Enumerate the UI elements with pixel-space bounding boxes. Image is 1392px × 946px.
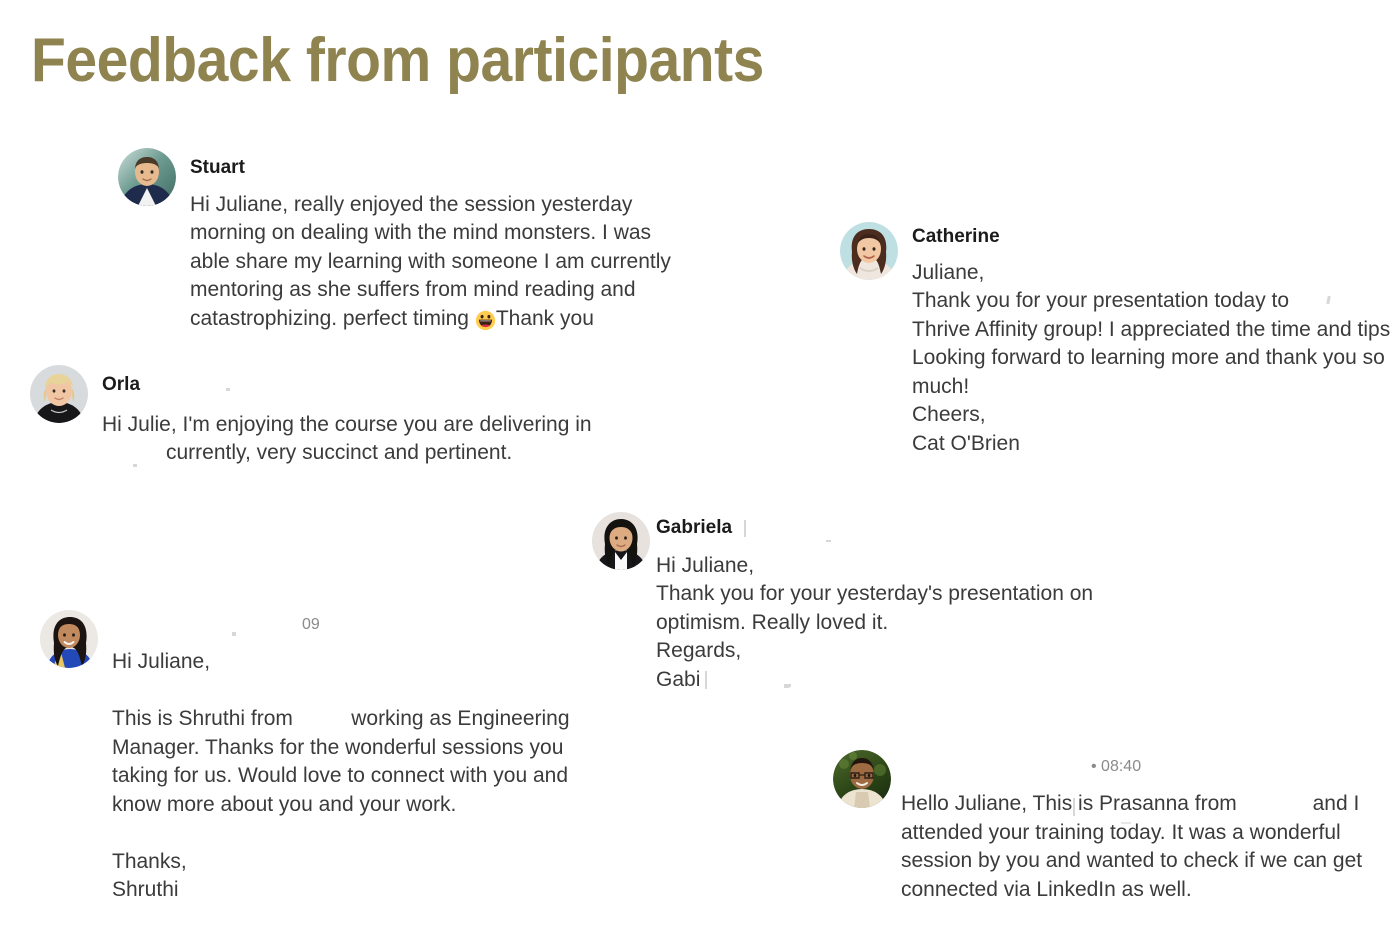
message-text: Hi Juliane, really enjoyed the session y…	[190, 191, 680, 336]
avatar-orla	[30, 365, 88, 423]
redaction-artifact	[232, 632, 236, 636]
avatar-shruthi	[40, 610, 98, 668]
redaction-artifact	[826, 540, 831, 542]
redaction-artifact	[226, 388, 230, 391]
redaction-artifact	[1121, 822, 1131, 824]
redaction-artifact	[705, 671, 707, 689]
message-timestamp: • 08:40	[1091, 758, 1141, 776]
author-name: Catherine	[912, 225, 1392, 249]
testimonial-body-catherine: Catherine Juliane, Thank you for your pr…	[912, 225, 1392, 458]
author-name: Stuart	[190, 156, 680, 180]
grinning-face-icon	[475, 310, 496, 332]
testimonial-body-stuart: Stuart Hi Juliane, really enjoyed the se…	[190, 156, 680, 335]
avatar-prasanna	[833, 750, 891, 808]
message-text: Hi Juliane, This is Shruthi from working…	[112, 648, 612, 905]
message-text: Hi Juliane, Thank you for your yesterday…	[656, 552, 1126, 695]
redaction-artifact	[1073, 798, 1075, 816]
testimonial-body-gabriela: Gabriela Hi Juliane, Thank you for your …	[656, 516, 1126, 694]
testimonial-body-orla: Orla Hi Julie, I'm enjoying the course y…	[102, 373, 632, 468]
page-title: Feedback from participants	[31, 30, 764, 92]
message-timestamp: 09	[302, 616, 320, 634]
author-name: Gabriela	[656, 516, 1126, 540]
testimonial-body-prasanna: Hello Juliane, This is Prasanna from and…	[901, 790, 1381, 904]
avatar-stuart	[118, 148, 176, 206]
avatar-gabriela	[592, 512, 650, 570]
redaction-artifact	[133, 464, 137, 467]
message-text: Juliane, Thank you for your presentation…	[912, 259, 1392, 459]
testimonial-body-shruthi: Hi Juliane, This is Shruthi from working…	[112, 648, 612, 905]
redaction-artifact	[744, 520, 746, 537]
message-text: Hi Julie, I'm enjoying the course you ar…	[102, 411, 632, 468]
redaction-artifact	[784, 684, 791, 688]
author-name: Orla	[102, 373, 632, 397]
avatar-catherine	[840, 222, 898, 280]
message-text: Hello Juliane, This is Prasanna from and…	[901, 790, 1381, 904]
